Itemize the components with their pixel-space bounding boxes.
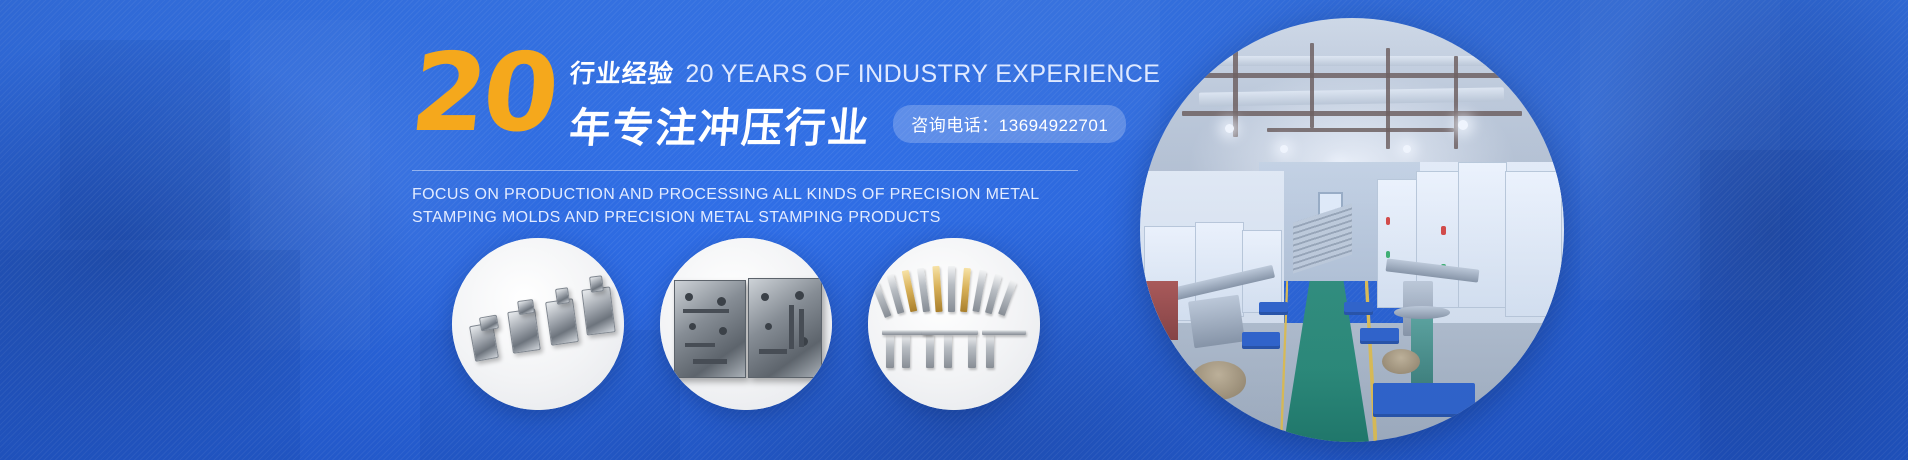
headline-text-group: 行业经验 20 YEARS OF INDUSTRY EXPERIENCE 年专注…: [570, 40, 1160, 154]
headline-cn-small: 行业经验: [569, 54, 676, 90]
headline-divider: [412, 170, 1078, 171]
product-circle-connectors: [452, 238, 624, 410]
photo-color-tint: [1140, 18, 1564, 442]
headline-line-2: 年专注冲压行业 咨询电话：13694922701: [570, 94, 1160, 154]
subtitle-text: FOCUS ON PRODUCTION AND PROCESSING ALL K…: [412, 183, 1072, 229]
pin-parts-group: [868, 238, 1040, 410]
phone-badge[interactable]: 咨询电话：13694922701: [893, 105, 1126, 143]
headline-cn-large: 年专注冲压行业: [568, 94, 874, 154]
die-parts-group: [660, 238, 832, 410]
connector-parts-group: [452, 238, 624, 410]
product-circle-terminal-pins: [868, 238, 1040, 410]
promo-banner: 20 行业经验 20 YEARS OF INDUSTRY EXPERIENCE …: [0, 0, 1908, 460]
headline-line-1: 行业经验 20 YEARS OF INDUSTRY EXPERIENCE: [570, 54, 1160, 90]
headline-row: 20 行业经验 20 YEARS OF INDUSTRY EXPERIENCE …: [412, 40, 1112, 154]
product-circle-stamping-dies: [660, 238, 832, 410]
headline-block: 20 行业经验 20 YEARS OF INDUSTRY EXPERIENCE …: [412, 40, 1112, 229]
factory-workshop-photo: [1140, 18, 1564, 442]
headline-en-small: 20 YEARS OF INDUSTRY EXPERIENCE: [685, 60, 1160, 89]
years-number: 20: [407, 44, 560, 143]
